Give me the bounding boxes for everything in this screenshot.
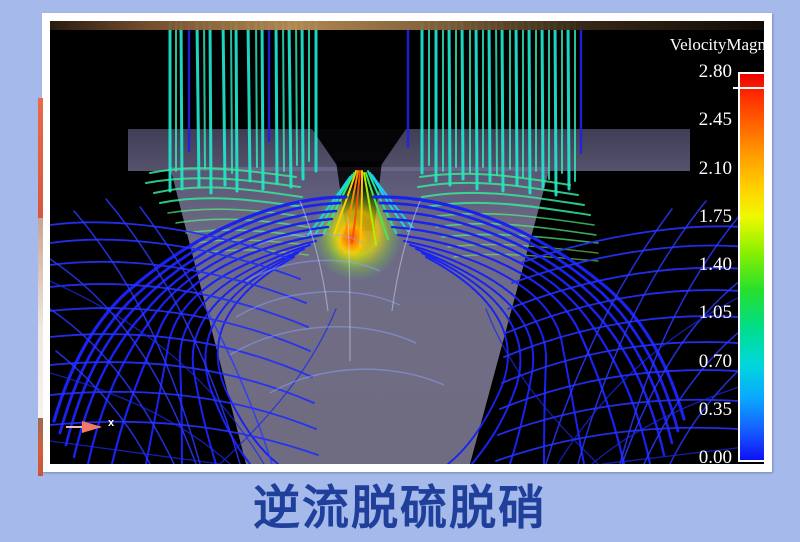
- axis-orientation-indicator: x: [66, 415, 120, 439]
- legend-tick-2-10: 2.10: [699, 158, 732, 180]
- colorbar-max-tick: [733, 87, 764, 89]
- cfd-streamline-scene: [50, 21, 764, 464]
- color-legend: VelocityMagnitude 2.80 2.45 2.10 1.75 1.…: [686, 31, 764, 461]
- left-edge-strip-middle: [38, 218, 43, 418]
- axis-label-x: x: [108, 417, 114, 429]
- legend-tick-labels: 2.80 2.45 2.10 1.75 1.40 1.05 0.70 0.35 …: [686, 72, 732, 458]
- legend-tick-1-40: 1.40: [699, 254, 732, 276]
- left-edge-strip-bottom: [38, 418, 43, 476]
- legend-tick-0-70: 0.70: [699, 351, 732, 373]
- slide-root: x VelocityMagnitude 2.80 2.45 2.10 1.75 …: [0, 0, 800, 542]
- legend-tick-2-45: 2.45: [699, 109, 732, 131]
- legend-tick-0-00: 0.00: [699, 447, 732, 464]
- legend-title: VelocityMagnitude: [670, 35, 764, 55]
- legend-tick-2-80: 2.80: [699, 61, 732, 83]
- render-canvas: x VelocityMagnitude 2.80 2.45 2.10 1.75 …: [50, 21, 764, 464]
- left-edge-strip-top: [38, 98, 43, 218]
- colorbar-gradient: [738, 72, 764, 462]
- caption-text: 逆流脱硫脱硝: [253, 485, 547, 532]
- image-frame: x VelocityMagnitude 2.80 2.45 2.10 1.75 …: [42, 13, 772, 472]
- legend-tick-0-35: 0.35: [699, 399, 732, 421]
- legend-tick-1-05: 1.05: [699, 302, 732, 324]
- render-top-sheen: [50, 21, 764, 30]
- legend-tick-1-75: 1.75: [699, 206, 732, 228]
- caption-area: 逆流脱硫脱硝: [0, 474, 800, 542]
